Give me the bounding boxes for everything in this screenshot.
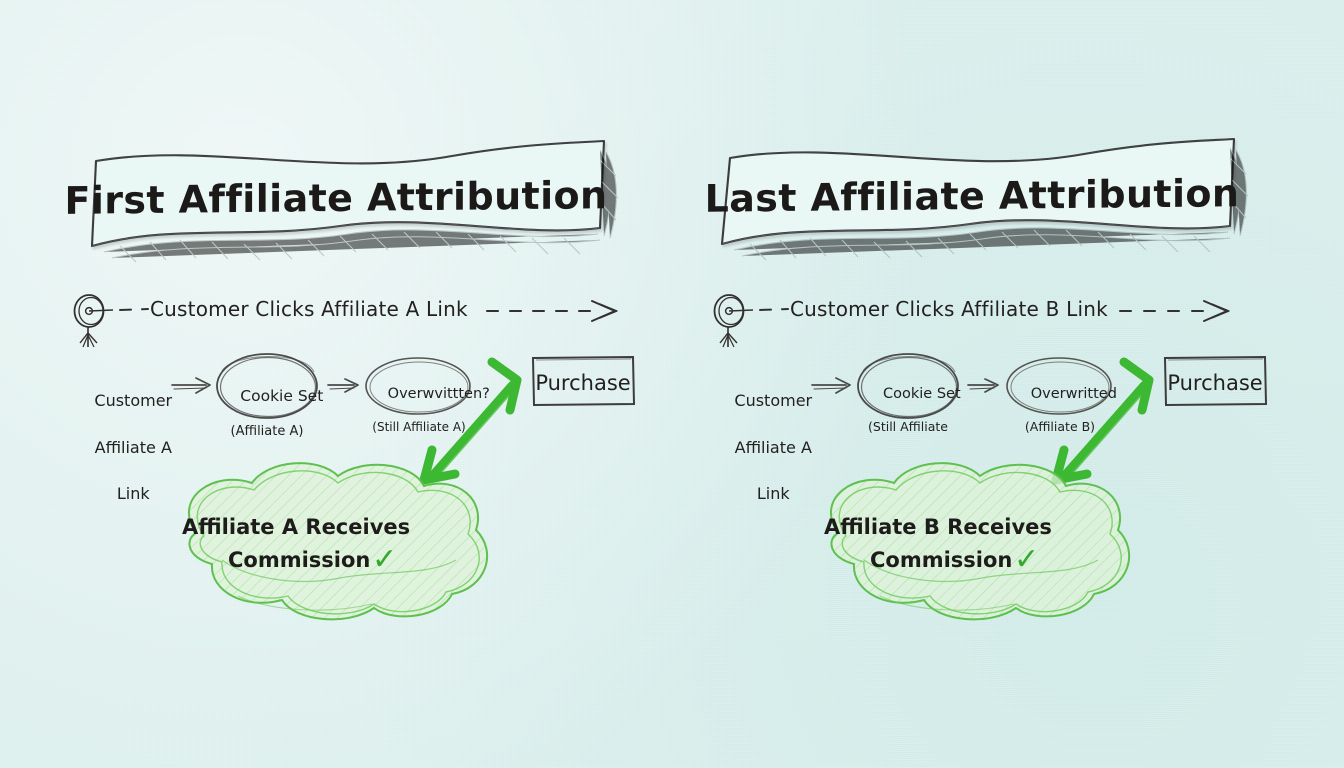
- target-pin-icon: [715, 295, 754, 347]
- dashed-arrow-head-icon: [1204, 301, 1229, 321]
- check-mark-icon: ✓: [372, 545, 397, 575]
- target-pin-icon: [75, 295, 114, 347]
- panel-last-affiliate-attribution: Last Affiliate Attribution Customer Clic…: [672, 0, 1344, 768]
- outcome-line1: Affiliate A Receives: [182, 512, 410, 542]
- node-overwritten-subtitle: (Still Affiliate A): [360, 420, 478, 434]
- node-cookie-set-title: Cookie Set: [240, 387, 323, 405]
- dashed-arrow-head-icon: [592, 301, 617, 321]
- flow-start-line2: Affiliate A: [95, 438, 172, 457]
- node-overwritten-label: Overwritted (Affiliate B): [1001, 369, 1119, 469]
- purchase-box-label: Purchase: [533, 371, 633, 396]
- journey-label: Customer Clicks Affiliate A Link: [150, 298, 468, 322]
- flow-start-line3: Link: [117, 484, 150, 503]
- node-overwritten-subtitle: (Affiliate B): [1001, 420, 1119, 435]
- flow-start-line1: Customer: [734, 391, 812, 410]
- flow-start-label: Customer Affiliate A Link: [58, 366, 178, 528]
- node-overwritten-title: Overwvittten?: [388, 386, 490, 402]
- purchase-box-label: Purchase: [1165, 371, 1265, 396]
- panel-first-affiliate-attribution: First Affiliate Attribution Customer Cli…: [0, 0, 672, 768]
- outcome-line1: Affiliate B Receives: [824, 512, 1052, 542]
- node-overwritten-title: Overwritted: [1031, 386, 1117, 402]
- outcome-line2: Commission: [228, 545, 370, 575]
- node-cookie-set-label: Cookie Set (Still Affiliate: [848, 369, 968, 469]
- arrow-cookie-to-overwritten: [968, 379, 998, 392]
- node-cookie-set-label: Cookie Set (Affiliate A): [207, 369, 327, 476]
- flow-start-line3: Link: [757, 484, 790, 503]
- arrow-cookie-to-overwritten: [328, 379, 358, 392]
- diagram-canvas: First Affiliate Attribution Customer Cli…: [0, 0, 1344, 768]
- flow-start-line2: Affiliate A: [735, 438, 812, 457]
- flow-start-label: Customer Affiliate A Link: [698, 366, 818, 528]
- node-cookie-set-subtitle: (Still Affiliate: [848, 420, 968, 435]
- node-overwritten-label: Overwvittten? (Still Affiliate A): [360, 369, 478, 469]
- banner-title: First Affiliate Attribution: [0, 172, 672, 224]
- node-cookie-set-subtitle: (Affiliate A): [207, 424, 327, 439]
- flow-start-line1: Customer: [94, 391, 172, 410]
- outcome-line2: Commission: [870, 545, 1012, 575]
- journey-label: Customer Clicks Affiliate B Link: [790, 298, 1108, 322]
- banner-title: Last Affiliate Attribution: [636, 170, 1308, 222]
- node-cookie-set-title: Cookie Set: [883, 386, 961, 402]
- check-mark-icon: ✓: [1014, 545, 1039, 575]
